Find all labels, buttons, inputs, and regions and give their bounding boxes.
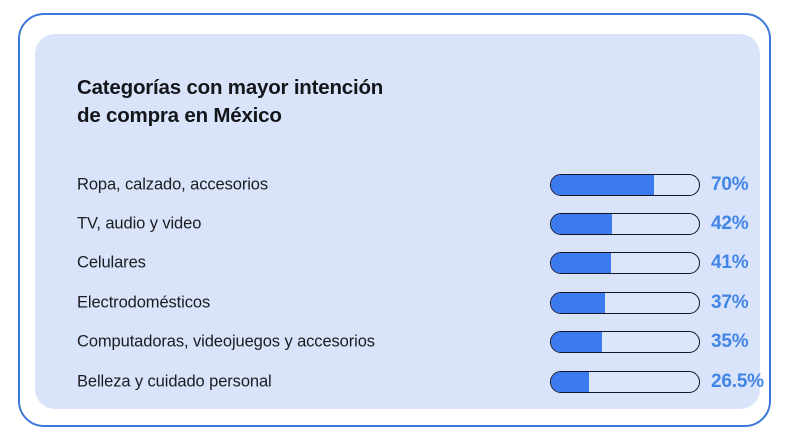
bar-fill xyxy=(550,371,589,393)
chart-row: Celulares41% xyxy=(77,244,737,283)
infographic-card: Categorías con mayor intención de compra… xyxy=(18,13,771,427)
chart-row: Ropa, calzado, accesorios70% xyxy=(77,165,737,204)
bar-track xyxy=(550,331,700,353)
bar-fill xyxy=(550,331,602,353)
bar-value-label: 26.5% xyxy=(711,371,764,393)
category-label: Computadoras, videojuegos y accesorios xyxy=(77,333,375,352)
chart-row: Belleza y cuidado personal26.5% xyxy=(77,362,737,401)
bar-track xyxy=(550,174,700,196)
bar-chart: Ropa, calzado, accesorios70%TV, audio y … xyxy=(77,165,737,401)
bar-track xyxy=(550,292,700,314)
bar-track xyxy=(550,213,700,235)
bar-value-label: 41% xyxy=(711,252,748,274)
chart-panel: Categorías con mayor intención de compra… xyxy=(35,34,760,409)
category-label: Belleza y cuidado personal xyxy=(77,372,272,391)
bar-track xyxy=(550,252,700,274)
bar-fill xyxy=(550,252,611,274)
bar-fill xyxy=(550,292,605,314)
category-label: TV, audio y video xyxy=(77,215,201,234)
bar-fill xyxy=(550,213,612,235)
chart-row: Computadoras, videojuegos y accesorios35… xyxy=(77,323,737,362)
category-label: Celulares xyxy=(77,254,146,273)
bar-value-label: 35% xyxy=(711,331,748,353)
bar-value-label: 70% xyxy=(711,174,748,196)
chart-row: Electrodomésticos37% xyxy=(77,283,737,322)
page-title: Categorías con mayor intención de compra… xyxy=(77,74,637,130)
category-label: Electrodomésticos xyxy=(77,293,210,312)
bar-fill xyxy=(550,174,654,196)
bar-value-label: 42% xyxy=(711,213,748,235)
bar-value-label: 37% xyxy=(711,292,748,314)
bar-track xyxy=(550,371,700,393)
category-label: Ropa, calzado, accesorios xyxy=(77,175,268,194)
chart-row: TV, audio y video42% xyxy=(77,204,737,243)
